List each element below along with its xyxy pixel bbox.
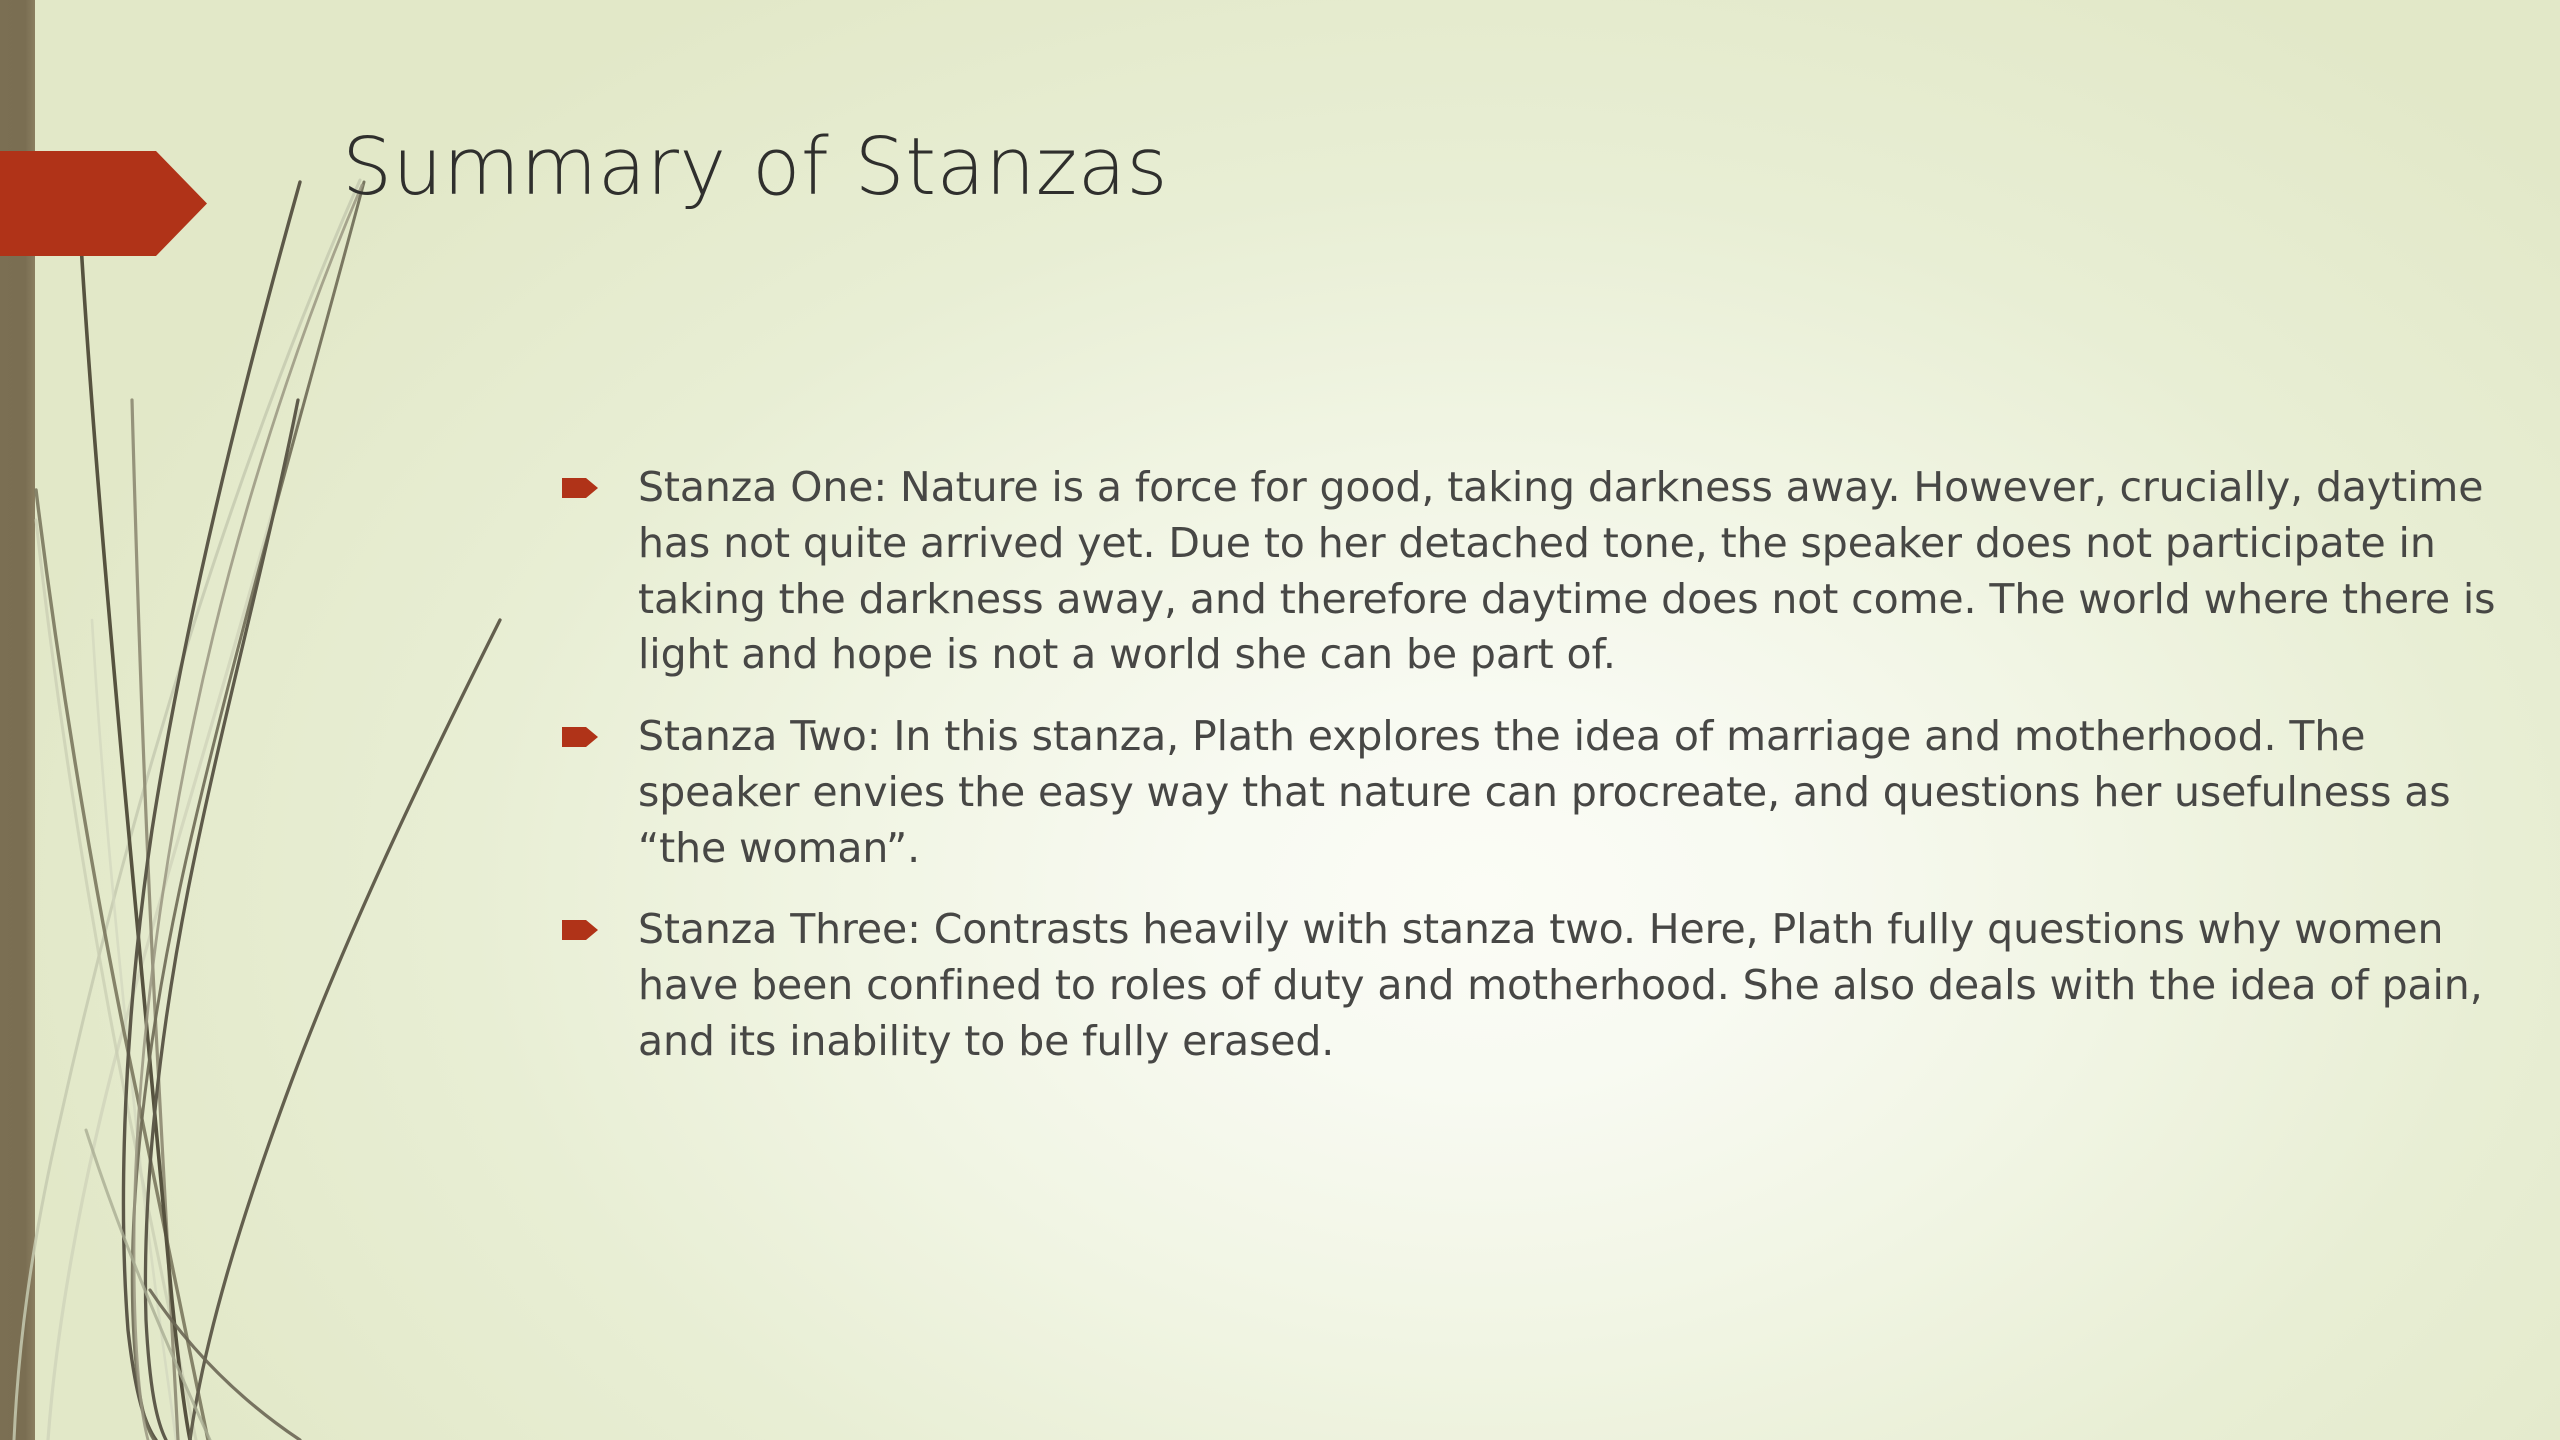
page-title: Summary of Stanzas xyxy=(342,126,2242,210)
slide-body-content: Stanza One: Nature is a force for good, … xyxy=(562,460,2507,1096)
list-item[interactable]: Stanza Three: Contrasts heavily with sta… xyxy=(562,902,2507,1069)
list-item[interactable]: Stanza One: Nature is a force for good, … xyxy=(562,460,2507,683)
pentagon-arrow-bullet-icon xyxy=(562,476,598,500)
list-item-label: Stanza Three: Contrasts heavily with sta… xyxy=(638,902,2507,1069)
pentagon-arrow-bullet-icon xyxy=(562,725,598,749)
list-item[interactable]: Stanza Two: In this stanza, Plath explor… xyxy=(562,709,2507,876)
list-item-label: Stanza Two: In this stanza, Plath explor… xyxy=(638,709,2507,876)
list-item-label: Stanza One: Nature is a force for good, … xyxy=(638,460,2507,683)
presentation-slide: Summary of Stanzas Stanza One: Nature is… xyxy=(0,0,2560,1440)
title-accent-banner xyxy=(0,151,207,256)
pentagon-arrow-bullet-icon xyxy=(562,918,598,942)
